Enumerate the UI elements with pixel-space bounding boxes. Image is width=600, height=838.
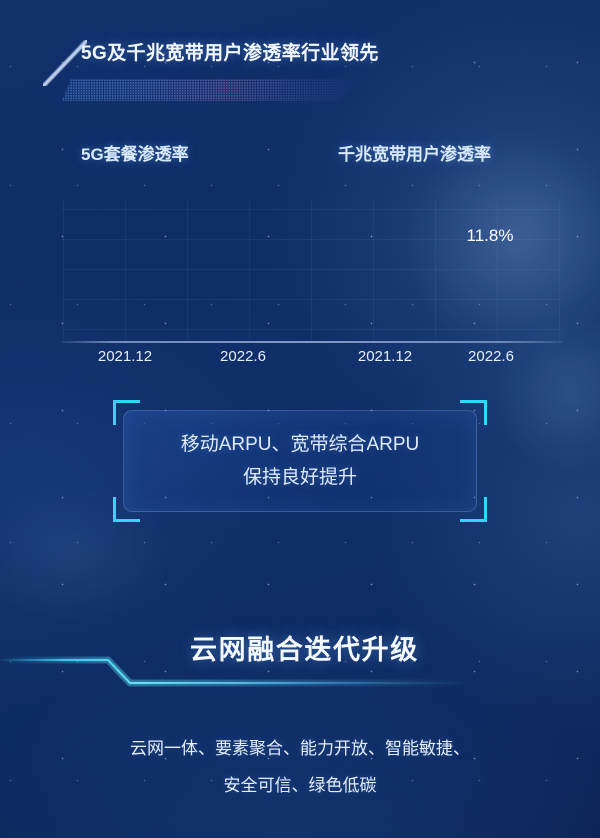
chart-gridlines xyxy=(62,200,562,341)
corner-bracket-bottom-left-icon xyxy=(113,497,140,522)
callout-line-1: 移动ARPU、宽带综合ARPU xyxy=(113,428,487,461)
chart-tick-label-1: 2022.6 xyxy=(188,348,298,365)
corner-bracket-top-left-icon xyxy=(113,400,140,425)
arpu-callout-box: 移动ARPU、宽带综合ARPU 保持良好提升 xyxy=(113,400,487,522)
callout-line-2: 保持良好提升 xyxy=(113,461,487,494)
corner-bracket-bottom-right-icon xyxy=(460,497,487,522)
section-heading: 云网融合迭代升级 xyxy=(190,628,419,667)
chart-section: 5G套餐渗透率 千兆宽带用户渗透率 11.8% 2021.12 2022.6 2… xyxy=(0,140,600,375)
footer-block: 云网一体、要素聚合、能力开放、智能敏捷、 安全可信、绿色低碳 xyxy=(0,730,600,804)
chart-tick-label-3: 2022.6 xyxy=(436,348,546,365)
callout-text: 移动ARPU、宽带综合ARPU 保持良好提升 xyxy=(113,428,487,494)
page-title-block: 5G及千兆宽带用户渗透率行业领先 xyxy=(0,38,600,100)
title-halftone-gradient-bar xyxy=(62,79,362,101)
chart-panel-title-5g: 5G套餐渗透率 xyxy=(81,140,189,165)
chart-plot-area xyxy=(62,200,562,341)
chart-value-label-11-8: 11.8% xyxy=(450,226,530,246)
section-heading-block: 云网融合迭代升级 xyxy=(0,618,600,698)
chart-tick-label-0: 2021.12 xyxy=(70,348,180,365)
footer-line-1: 云网一体、要素聚合、能力开放、智能敏捷、 xyxy=(0,730,600,767)
corner-bracket-top-right-icon xyxy=(460,400,487,425)
page-title: 5G及千兆宽带用户渗透率行业领先 xyxy=(81,38,379,65)
chart-baseline-axis xyxy=(62,341,562,343)
slide-root: 5G及千兆宽带用户渗透率行业领先 5G套餐渗透率 千兆宽带用户渗透率 11.8%… xyxy=(0,0,600,838)
chart-tick-label-2: 2021.12 xyxy=(330,348,440,365)
footer-line-2: 安全可信、绿色低碳 xyxy=(0,767,600,804)
chart-panel-title-gigabit: 千兆宽带用户渗透率 xyxy=(338,140,491,165)
